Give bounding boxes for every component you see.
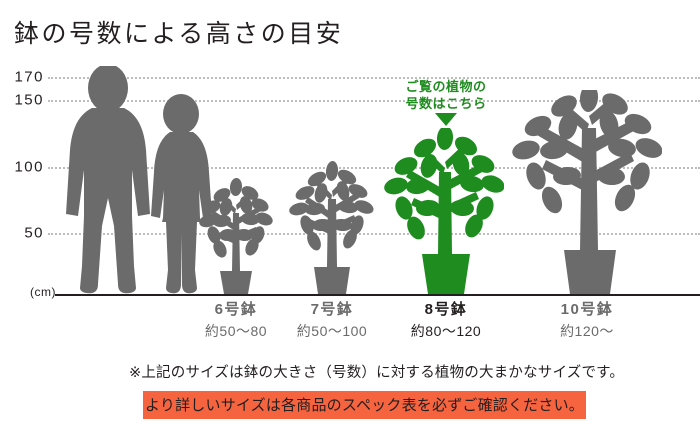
category-name: 8号鉢 (381, 298, 511, 319)
y-tick-50: 50 (0, 225, 44, 242)
y-tick-170: 170 (0, 69, 44, 86)
category-label-10go: 10号鉢 約120〜 (522, 298, 652, 341)
page-title: 鉢の号数による高さの目安 (14, 14, 343, 50)
footnote-note: ※上記のサイズは鉢の大きさ（号数）に対する植物の大まかなサイズです。 (129, 361, 624, 382)
y-tick-100: 100 (0, 159, 44, 176)
y-axis-unit-label: (cm) (0, 285, 56, 299)
callout-line-2: 号数はこちら (378, 95, 514, 112)
category-range: 約120〜 (522, 321, 652, 341)
category-label-8go: 8号鉢 約80〜120 (381, 298, 511, 341)
category-name: 7号鉢 (267, 298, 397, 319)
figure-person-male (62, 66, 154, 294)
axis-baseline (55, 294, 700, 296)
figure-tree-6go (196, 173, 276, 294)
category-name: 10号鉢 (522, 298, 652, 319)
footnote-highlight-wrap: より詳しいサイズは各商品のスペック表を必ずご確認ください。 (143, 391, 586, 419)
category-range: 約80〜120 (381, 321, 511, 341)
footnote-highlighted-note: より詳しいサイズは各商品のスペック表を必ずご確認ください。 (143, 391, 586, 419)
figure-tree-8go-selected (384, 128, 504, 294)
category-range: 約50〜100 (267, 321, 397, 341)
chart-plot-area: 170 150 100 50 (cm) (0, 60, 700, 300)
figure-tree-7go (288, 159, 376, 294)
category-label-7go: 7号鉢 約50〜100 (267, 298, 397, 341)
callout-line-1: ご覧の植物の (378, 78, 514, 95)
y-tick-150: 150 (0, 92, 44, 109)
figure-tree-10go (512, 90, 662, 294)
selected-size-callout: ご覧の植物の 号数はこちら (378, 78, 514, 126)
callout-down-triangle-icon (435, 113, 457, 126)
